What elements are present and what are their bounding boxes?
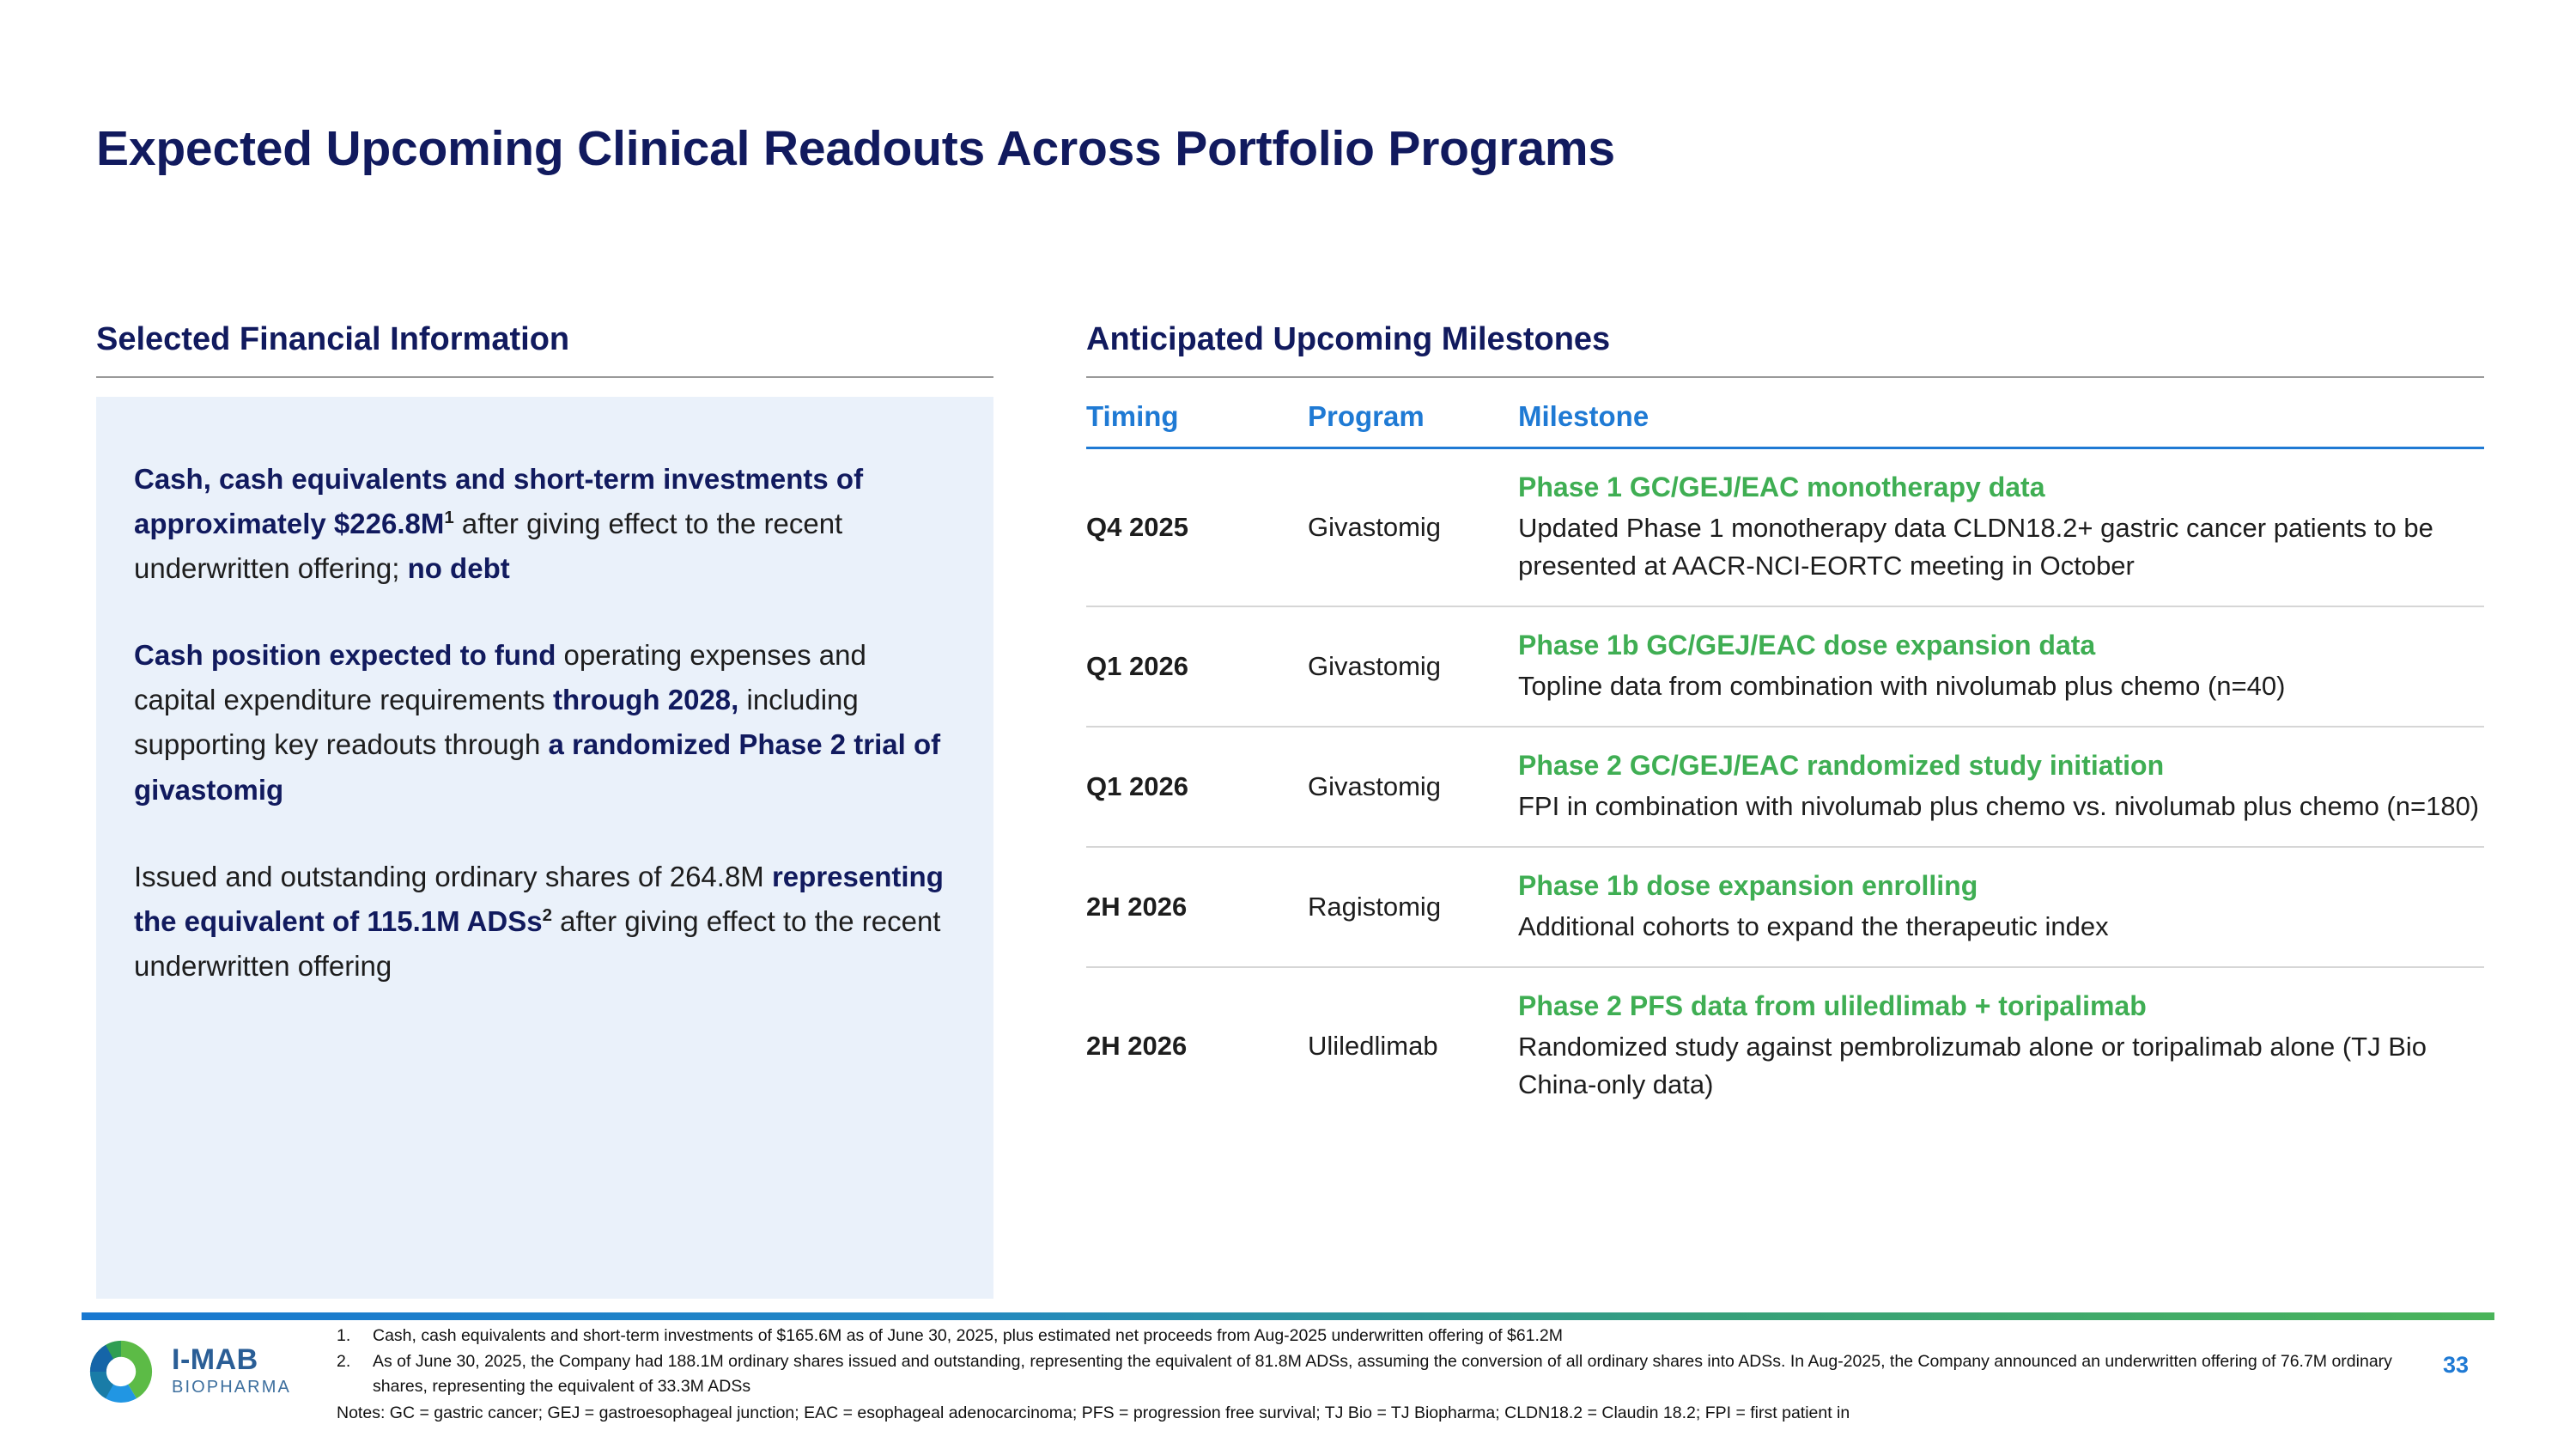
table-row: 2H 2026RagistomigPhase 1b dose expansion… (1086, 847, 2484, 967)
column-header-milestone: Milestone (1518, 400, 2484, 448)
footnote-text: Cash, cash equivalents and short-term in… (373, 1324, 2423, 1349)
milestone-detail: Randomized study against pembrolizumab a… (1518, 1028, 2484, 1104)
financial-paragraph-shares-outstanding: Issued and outstanding ordinary shares o… (134, 855, 945, 989)
logo-name: I-MAB (172, 1345, 291, 1374)
milestone-detail: Updated Phase 1 monotherapy data CLDN18.… (1518, 509, 2484, 585)
section-heading-financial: Selected Financial Information (96, 322, 993, 358)
financial-paragraph-cash-position: Cash, cash equivalents and short-term in… (134, 457, 945, 591)
footnote-number: 2. (337, 1349, 373, 1400)
financial-highlights-panel: Cash, cash equivalents and short-term in… (96, 397, 993, 1299)
footnote-marker: 1 (444, 508, 453, 527)
anticipated-milestones-section: Anticipated Upcoming Milestones Timing P… (1086, 322, 2484, 1124)
section-divider-financial (96, 376, 993, 378)
footnote-text: As of June 30, 2025, the Company had 188… (373, 1349, 2423, 1400)
cell-program: Uliledlimab (1308, 967, 1518, 1124)
footnote-marker: 2 (543, 905, 552, 925)
cell-timing: Q4 2025 (1086, 447, 1308, 606)
footnote-item: 1.Cash, cash equivalents and short-term … (337, 1324, 2423, 1349)
table-row: Q1 2026GivastomigPhase 1b GC/GEJ/EAC dos… (1086, 606, 2484, 727)
cell-timing: Q1 2026 (1086, 727, 1308, 847)
milestone-detail: Topline data from combination with nivol… (1518, 667, 2484, 705)
milestone-detail: FPI in combination with nivolumab plus c… (1518, 788, 2484, 825)
notes-text: Notes: GC = gastric cancer; GEJ = gastro… (337, 1401, 2423, 1427)
emphasis-text: through 2028, (553, 684, 738, 715)
cell-timing: 2H 2026 (1086, 847, 1308, 967)
emphasis-text: no debt (408, 552, 510, 584)
table-row: Q4 2025GivastomigPhase 1 GC/GEJ/EAC mono… (1086, 447, 2484, 606)
cell-timing: Q1 2026 (1086, 606, 1308, 727)
footer-divider (82, 1312, 2494, 1320)
cell-milestone: Phase 1b dose expansion enrollingAdditio… (1518, 847, 2484, 967)
body-text: Issued and outstanding ordinary shares o… (134, 861, 772, 892)
milestone-headline: Phase 2 PFS data from uliledlimab + tori… (1518, 989, 2484, 1024)
cell-program: Ragistomig (1308, 847, 1518, 967)
section-heading-milestones: Anticipated Upcoming Milestones (1086, 322, 2484, 358)
cell-milestone: Phase 2 GC/GEJ/EAC randomized study init… (1518, 727, 2484, 847)
financial-paragraph-cash-runway: Cash position expected to fund operating… (134, 633, 945, 813)
logo-tagline: BIOPHARMA (172, 1379, 291, 1396)
cell-milestone: Phase 1 GC/GEJ/EAC monotherapy dataUpdat… (1518, 447, 2484, 606)
cell-milestone: Phase 2 PFS data from uliledlimab + tori… (1518, 967, 2484, 1124)
milestone-headline: Phase 1b dose expansion enrolling (1518, 868, 2484, 904)
cell-program: Givastomig (1308, 606, 1518, 727)
milestones-table: Timing Program Milestone Q4 2025Givastom… (1086, 400, 2484, 1124)
cell-milestone: Phase 1b GC/GEJ/EAC dose expansion dataT… (1518, 606, 2484, 727)
selected-financial-information-section: Selected Financial Information Cash, cas… (96, 322, 993, 1299)
table-header-row: Timing Program Milestone (1086, 400, 2484, 448)
table-row: 2H 2026UliledlimabPhase 2 PFS data from … (1086, 967, 2484, 1124)
footnote-item: 2.As of June 30, 2025, the Company had 1… (337, 1349, 2423, 1400)
footnote-number: 1. (337, 1324, 373, 1349)
company-logo: I-MAB BIOPHARMA (86, 1335, 318, 1412)
column-header-timing: Timing (1086, 400, 1308, 448)
imab-swirl-logo-icon (86, 1336, 156, 1407)
emphasis-text: Cash position expected to fund (134, 639, 556, 671)
table-row: Q1 2026GivastomigPhase 2 GC/GEJ/EAC rand… (1086, 727, 2484, 847)
milestone-headline: Phase 1 GC/GEJ/EAC monotherapy data (1518, 470, 2484, 505)
logo-wordmark: I-MAB BIOPHARMA (172, 1345, 291, 1396)
section-divider-milestones (1086, 376, 2484, 378)
milestone-detail: Additional cohorts to expand the therape… (1518, 908, 2484, 946)
cell-program: Givastomig (1308, 447, 1518, 606)
cell-timing: 2H 2026 (1086, 967, 1308, 1124)
cell-program: Givastomig (1308, 727, 1518, 847)
page-number: 33 (2443, 1352, 2469, 1379)
milestone-headline: Phase 1b GC/GEJ/EAC dose expansion data (1518, 628, 2484, 663)
column-header-program: Program (1308, 400, 1518, 448)
footnotes-block: 1.Cash, cash equivalents and short-term … (337, 1324, 2423, 1427)
page-title: Expected Upcoming Clinical Readouts Acro… (96, 120, 1615, 177)
milestone-headline: Phase 2 GC/GEJ/EAC randomized study init… (1518, 748, 2484, 783)
